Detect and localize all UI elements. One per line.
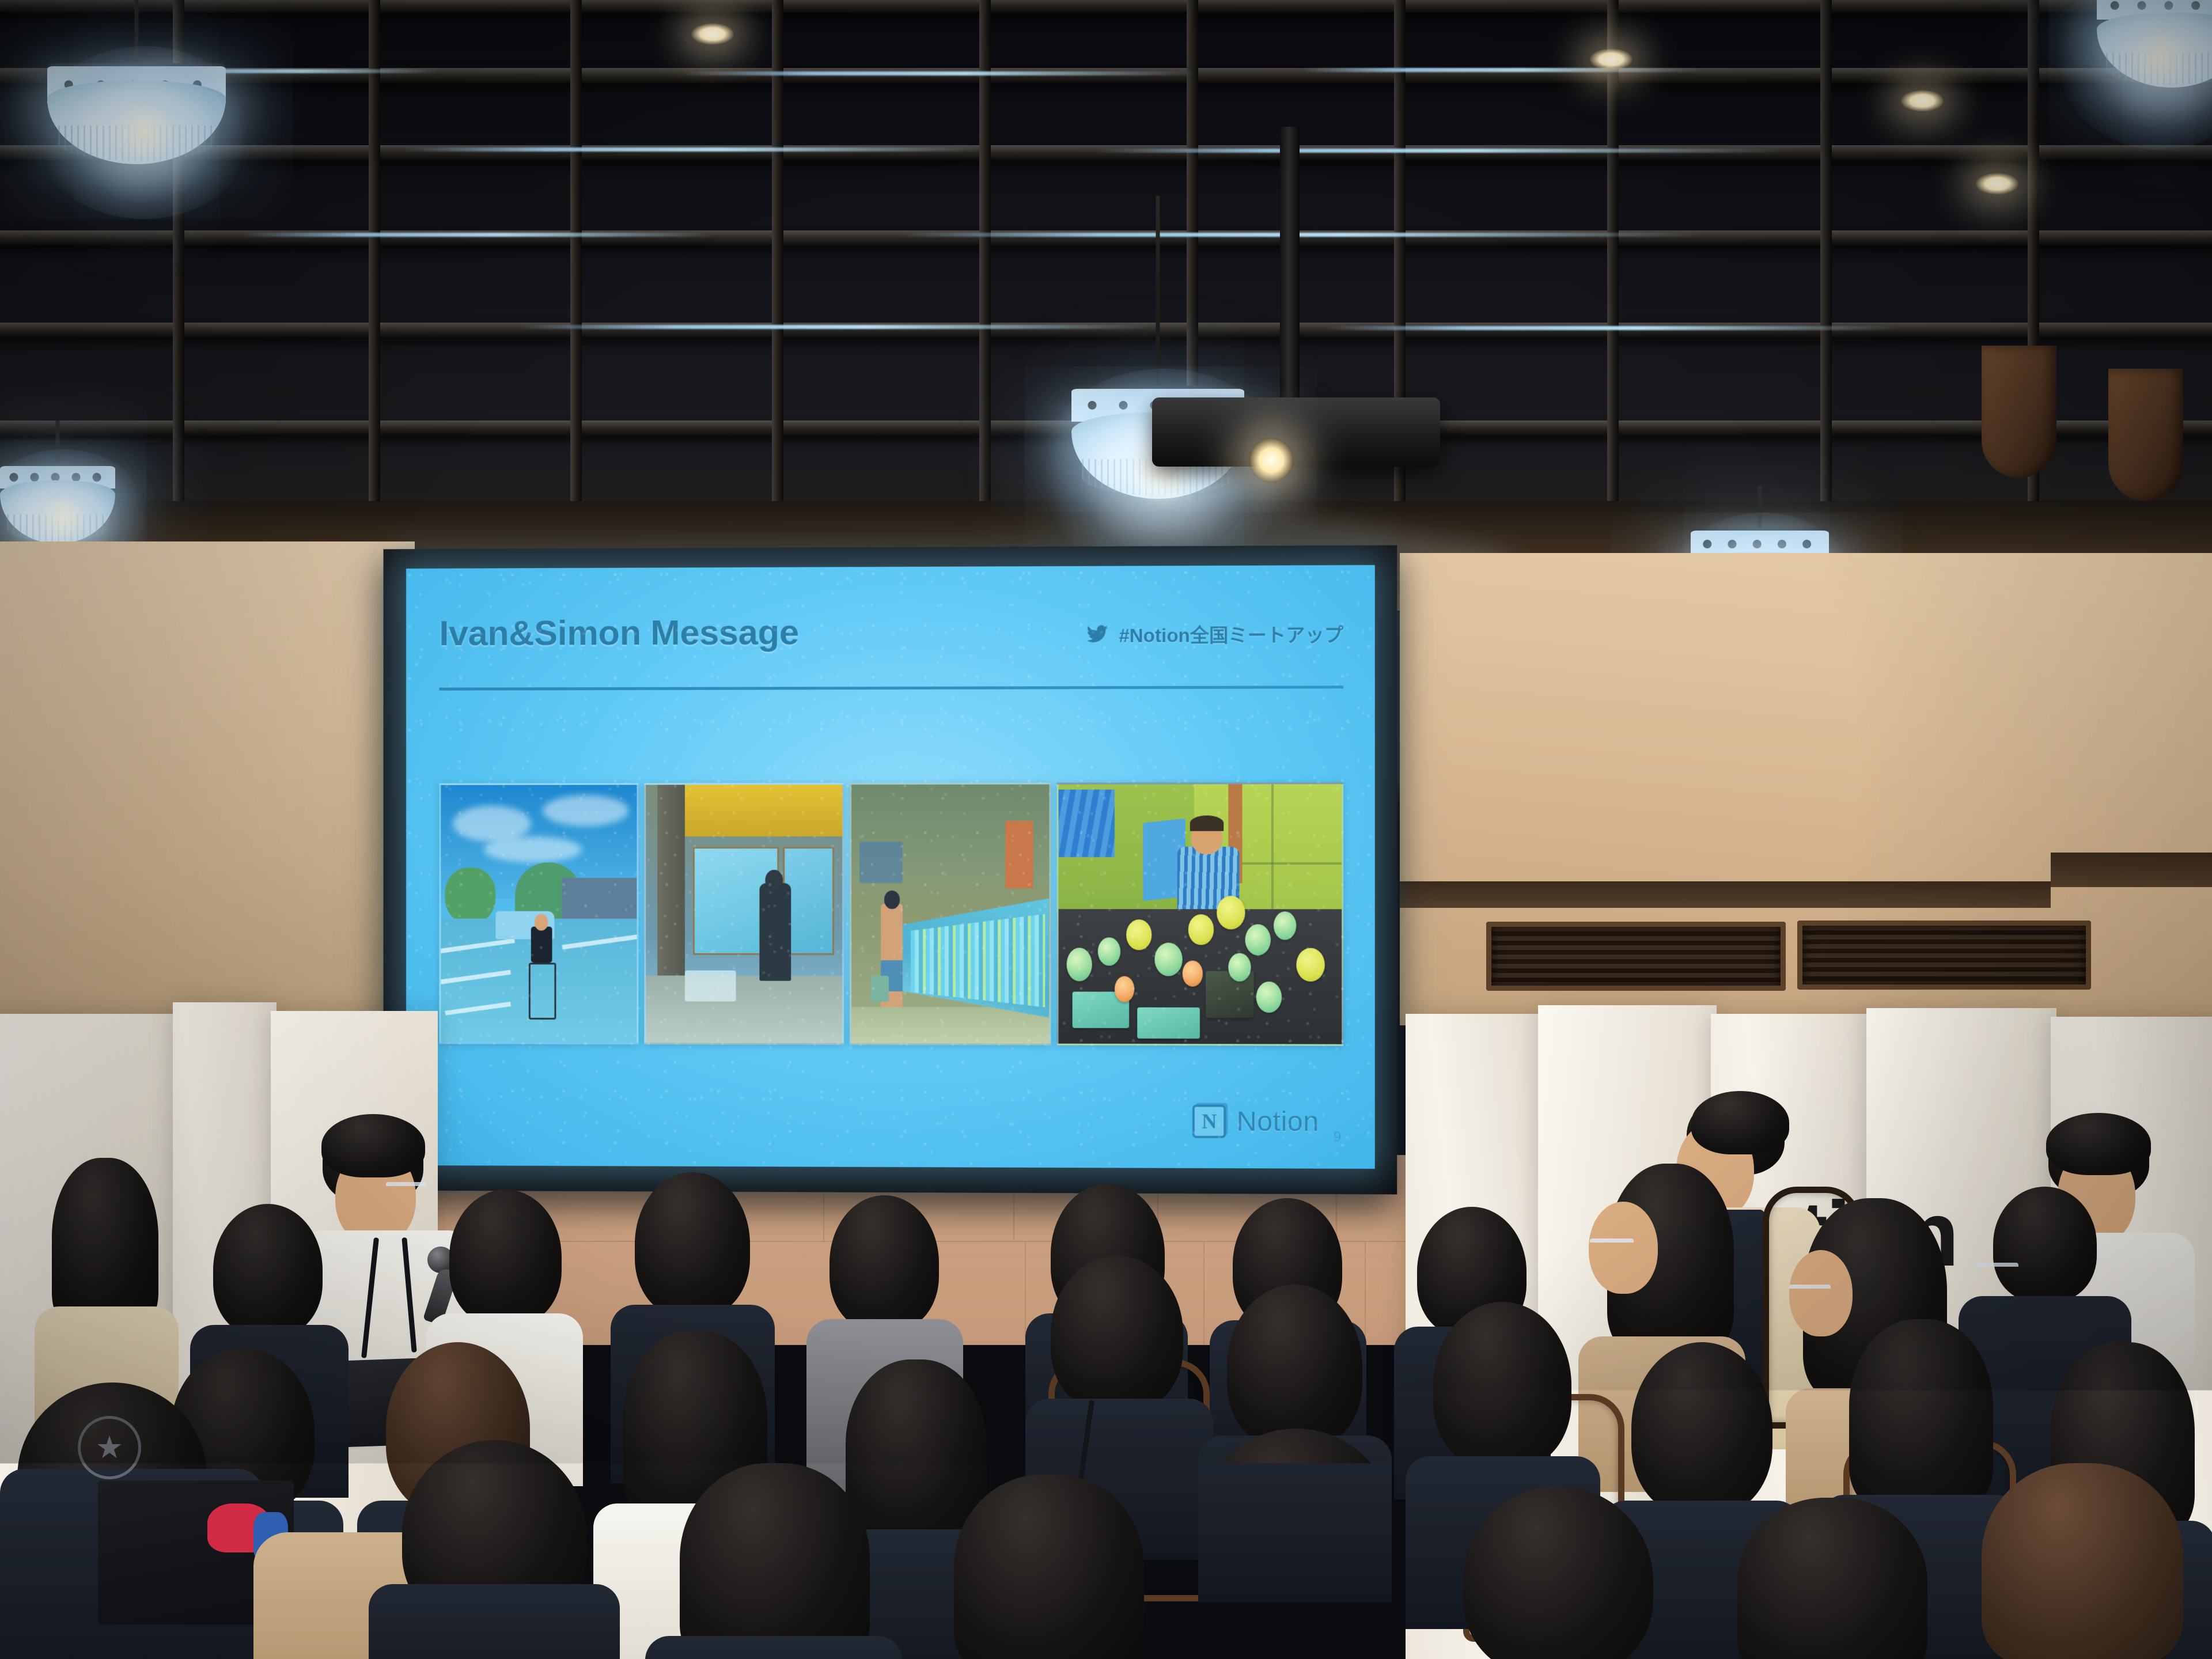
slide-photo-cycling xyxy=(439,783,638,1044)
ceiling-projector xyxy=(1152,397,1440,467)
pendant-lamp-far-right xyxy=(2097,0,2212,92)
venue-photograph: Ivan&Simon Message #Notion全国ミートアップ xyxy=(0,0,2212,1659)
notion-logo: N Notion xyxy=(1192,1105,1319,1139)
audience-member-foreground xyxy=(922,1475,1175,1659)
slide-page-number: 9 xyxy=(1334,1129,1342,1145)
pendant-lamp-far-left xyxy=(47,17,226,150)
recessed-ceiling-light xyxy=(691,23,734,45)
pendant-lamp-left xyxy=(0,455,115,553)
notion-brand-text: Notion xyxy=(1237,1105,1319,1138)
projection-screen: Ivan&Simon Message #Notion全国ミートアップ xyxy=(384,546,1397,1195)
wall-vent-grille xyxy=(1486,922,1786,991)
projector-mount-pole xyxy=(1280,127,1300,403)
wall-vent-grille xyxy=(1797,921,2091,990)
slide-header: Ivan&Simon Message #Notion全国ミートアップ xyxy=(439,611,1343,682)
slide-divider xyxy=(439,685,1343,690)
audience-member-foreground xyxy=(369,1440,622,1659)
wall-left xyxy=(0,541,415,1060)
presentation-slide: Ivan&Simon Message #Notion全国ミートアップ xyxy=(406,565,1375,1169)
wall-trim-beam xyxy=(2051,853,2212,887)
slide-photo-supermarket-aisle xyxy=(850,783,1051,1046)
recessed-ceiling-light xyxy=(1901,90,1944,112)
notion-letter: N xyxy=(1202,1111,1217,1132)
slide-photo-japanese-feast xyxy=(1056,782,1343,1046)
audience-member-foreground xyxy=(1429,1486,1688,1659)
slide-title: Ivan&Simon Message xyxy=(439,612,798,654)
recessed-ceiling-light xyxy=(1590,48,1633,70)
circled-star-icon: ★ xyxy=(78,1416,141,1479)
coffered-ceiling xyxy=(0,0,2212,611)
wood-corbel xyxy=(2108,369,2183,501)
slide-hashtag: #Notion全国ミートアップ xyxy=(1119,620,1343,648)
notion-cube-icon: N xyxy=(1192,1105,1226,1138)
slide-photo-strip xyxy=(439,782,1343,1046)
recessed-ceiling-light xyxy=(1976,173,2018,195)
audience-member-foreground xyxy=(1164,1429,1429,1659)
slide-hashtag-group: #Notion全国ミートアップ xyxy=(1084,620,1343,648)
wall-trim-beam xyxy=(1400,881,2051,908)
twitter-bird-icon xyxy=(1084,623,1111,646)
audience-member-foreground xyxy=(645,1463,904,1659)
wood-corbel xyxy=(1982,346,2056,478)
audience-member-foreground xyxy=(1705,1498,1959,1659)
slide-photo-store-entrance xyxy=(644,783,844,1045)
projector-lens xyxy=(1249,438,1294,483)
audience-member-foreground xyxy=(1947,1463,2212,1659)
